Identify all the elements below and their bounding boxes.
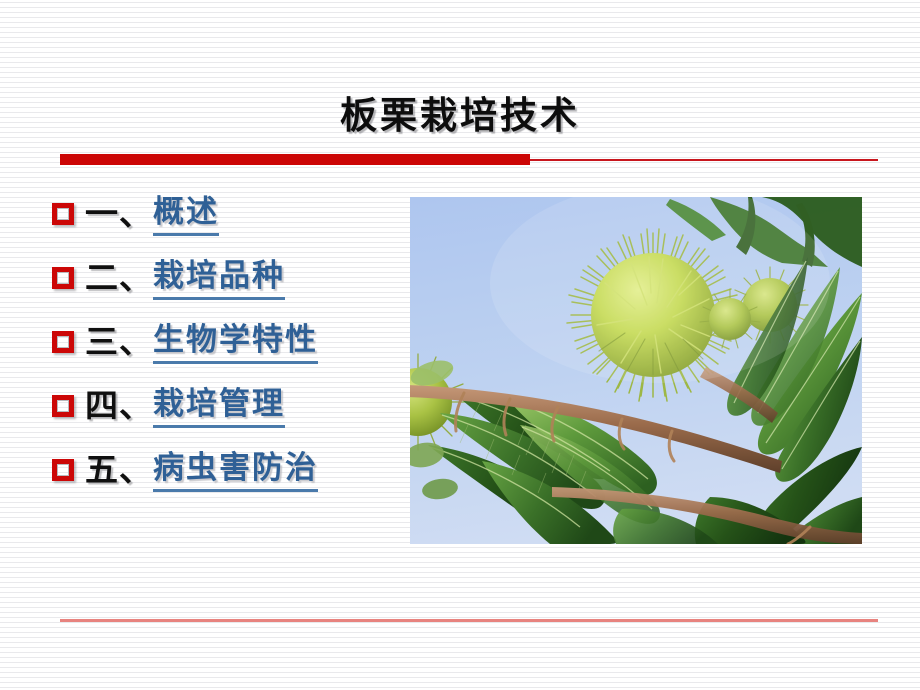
list-item[interactable]: 一、 概述 bbox=[52, 182, 452, 246]
toc-link-pest-control[interactable]: 病虫害防治 bbox=[153, 448, 318, 492]
title-block: 板栗栽培技术 bbox=[0, 92, 920, 138]
table-of-contents: 一、 概述 二、 栽培品种 三、 生物学特性 四、 栽培管理 五、 病虫害防治 bbox=[52, 182, 452, 502]
slide-canvas: 板栗栽培技术 一、 概述 二、 栽培品种 三、 生物学特性 四、 栽培管理 五、 bbox=[0, 0, 920, 690]
list-item-number: 一、 bbox=[85, 194, 153, 234]
list-item[interactable]: 二、 栽培品种 bbox=[52, 246, 452, 310]
red-square-bullet-icon bbox=[52, 459, 74, 481]
red-square-bullet-icon bbox=[52, 203, 74, 225]
chestnut-photo-illustration bbox=[410, 197, 862, 544]
toc-link-biology[interactable]: 生物学特性 bbox=[153, 320, 318, 364]
list-item-number: 二、 bbox=[85, 258, 153, 298]
red-square-bullet-icon bbox=[52, 395, 74, 417]
list-item-number: 三、 bbox=[85, 322, 153, 362]
toc-link-cultivars[interactable]: 栽培品种 bbox=[153, 256, 285, 300]
toc-link-overview[interactable]: 概述 bbox=[153, 192, 219, 236]
footer-divider bbox=[60, 619, 878, 622]
toc-link-management[interactable]: 栽培管理 bbox=[153, 384, 285, 428]
red-square-bullet-icon bbox=[52, 267, 74, 289]
list-item-number: 四、 bbox=[85, 386, 153, 426]
title-divider-thick bbox=[60, 154, 530, 165]
page-title: 板栗栽培技术 bbox=[340, 92, 580, 138]
list-item-number: 五、 bbox=[85, 450, 153, 490]
chestnut-photo bbox=[410, 197, 862, 544]
list-item[interactable]: 四、 栽培管理 bbox=[52, 374, 452, 438]
list-item[interactable]: 三、 生物学特性 bbox=[52, 310, 452, 374]
red-square-bullet-icon bbox=[52, 331, 74, 353]
list-item[interactable]: 五、 病虫害防治 bbox=[52, 438, 452, 502]
